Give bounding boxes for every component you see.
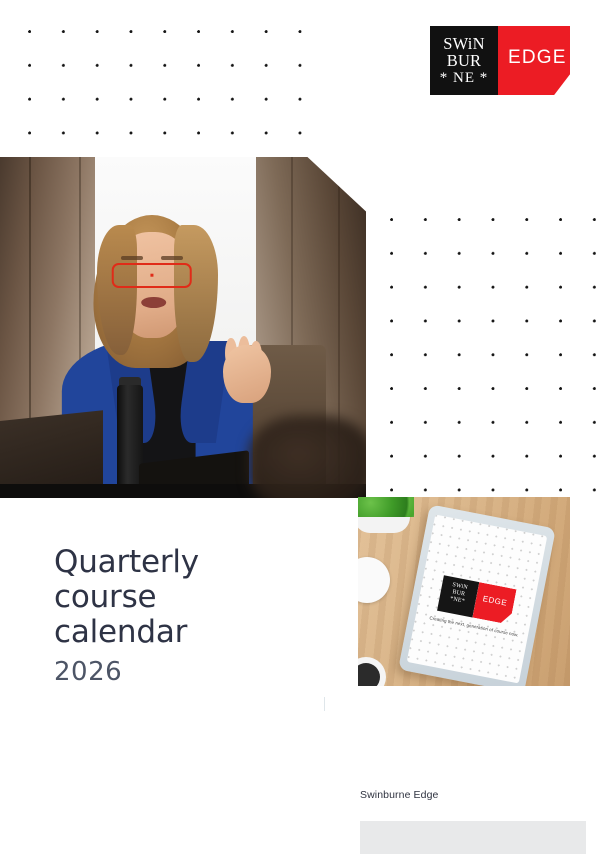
hero-eyebrow-left — [121, 256, 143, 260]
title-year: 2026 — [54, 655, 344, 689]
logo-line-1: SWiN — [443, 36, 484, 53]
title-line-3: calendar — [54, 615, 344, 650]
hero-eyebrow-right — [161, 256, 183, 260]
title-line-1: Quarterly — [54, 545, 344, 580]
tablet-photo: SWiNBUR*NE* EDGE Creating the next, gene… — [358, 497, 570, 686]
edge-sub-brand-panel: EDGE — [498, 26, 570, 95]
edge-label: EDGE — [508, 47, 567, 69]
footer-organisation-label: Swinburne Edge — [360, 789, 438, 801]
swinburne-edge-logo: SWiN BUR * NE * EDGE — [430, 26, 570, 95]
page-title: Quarterly course calendar 2026 — [54, 545, 344, 689]
hero-red-glasses — [112, 263, 193, 289]
hero-hand — [223, 345, 271, 403]
hero-foreground-blur — [249, 416, 366, 498]
tablet-screen: SWiNBUR*NE* EDGE Creating the next, gene… — [407, 515, 548, 684]
hero-mouth — [141, 297, 167, 309]
tablet-plant — [358, 497, 414, 517]
hero-photo-presenter — [0, 157, 366, 498]
dot-grid-top-left — [28, 30, 311, 142]
logo-line-2: BUR — [447, 53, 482, 70]
swinburne-wordmark: SWiN BUR * NE * — [430, 26, 498, 95]
title-line-2: course — [54, 580, 344, 615]
tablet-screen-logo-edge: EDGE — [472, 582, 516, 625]
logo-line-3: * NE * — [440, 71, 489, 86]
tablet-screen-logo-wordmark: SWiNBUR*NE* — [437, 575, 479, 617]
brochure-cover-page: SWiN BUR * NE * EDGE — [0, 0, 600, 854]
dot-grid-right — [390, 218, 600, 508]
footer-bar — [360, 821, 586, 854]
center-tick-mark — [324, 697, 325, 711]
